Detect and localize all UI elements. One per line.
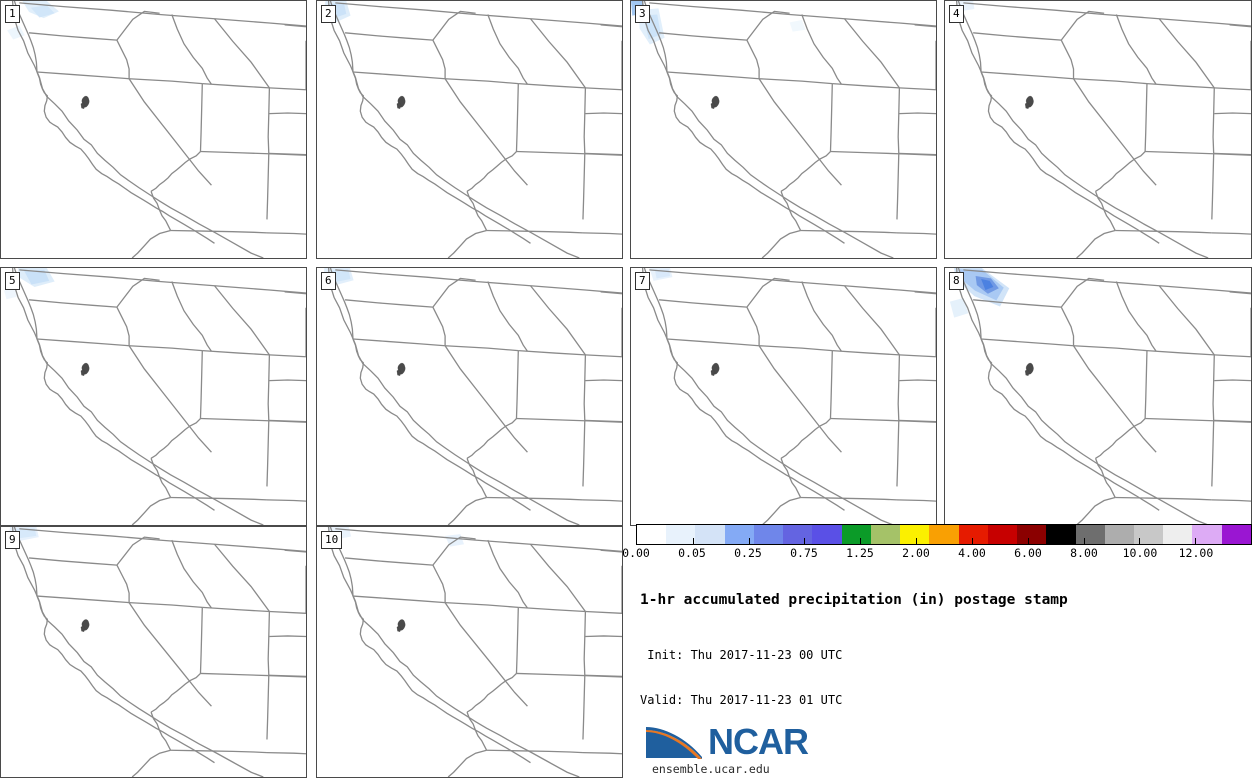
colorbar-tick-mark-7 — [1028, 538, 1029, 544]
colorbar-tick-mark-6 — [972, 538, 973, 544]
state-boundaries-8 — [957, 268, 1251, 525]
colorbar-swatch-9 — [900, 525, 929, 544]
colorbar-tick-label-5: 2.00 — [902, 546, 930, 560]
colorbar-tick-label-6: 4.00 — [958, 546, 986, 560]
colorbar-tick-labels: 0.000.050.250.751.252.004.006.008.0010.0… — [636, 546, 1252, 562]
map-panel-8[interactable]: 8 — [944, 267, 1252, 526]
colorbar-tick-mark-2 — [749, 538, 750, 544]
state-boundaries-4 — [957, 1, 1251, 258]
colorbar-swatch-4 — [754, 525, 783, 544]
colorbar-swatch-2 — [695, 525, 724, 544]
colorbar-tick-label-9: 10.00 — [1123, 546, 1158, 560]
colorbar-swatch-16 — [1105, 525, 1134, 544]
map-canvas-6 — [317, 268, 622, 525]
colorbar-tick-label-10: 12.00 — [1179, 546, 1214, 560]
map-canvas-5 — [1, 268, 306, 525]
colorbar-swatch-7 — [842, 525, 871, 544]
ncar-wordmark: NCAR — [708, 724, 808, 760]
colorbar-swatch-18 — [1163, 525, 1192, 544]
colorbar-swatch-19 — [1192, 525, 1221, 544]
colorbar-swatch-13 — [1017, 525, 1046, 544]
colorbar-swatch-14 — [1046, 525, 1075, 544]
valid-time-line: Valid: Thu 2017-11-23 01 UTC — [640, 693, 1240, 708]
plot-title: 1-hr accumulated precipitation (in) post… — [640, 592, 1240, 608]
init-time-line: Init: Thu 2017-11-23 00 UTC — [640, 648, 1240, 663]
colorbar-tick-mark-8 — [1084, 538, 1085, 544]
panel-number-label-6: 6 — [321, 272, 336, 290]
colorbar-swatch-20 — [1222, 525, 1251, 544]
colorbar-tick-label-0: 0.00 — [622, 546, 650, 560]
precip-contour-3-3 — [790, 20, 806, 32]
colorbar-tick-label-4: 1.25 — [846, 546, 874, 560]
colorbar-tick-mark-1 — [693, 538, 694, 544]
panel-number-label-9: 9 — [5, 531, 20, 549]
map-canvas-8 — [945, 268, 1251, 525]
panel-number-label-3: 3 — [635, 5, 650, 23]
map-panel-5[interactable]: 5 — [0, 267, 307, 526]
colorbar-swatch-11 — [959, 525, 988, 544]
map-panel-2[interactable]: 2 — [316, 0, 623, 259]
map-canvas-3 — [631, 1, 936, 258]
colorbar-swatch-10 — [929, 525, 958, 544]
panel-number-label-4: 4 — [949, 5, 964, 23]
colorbar-swatch-15 — [1076, 525, 1105, 544]
state-boundaries-3 — [643, 1, 936, 258]
colorbar-tick-label-7: 6.00 — [1014, 546, 1042, 560]
state-boundaries-1 — [13, 1, 306, 258]
colorbar-swatch-1 — [666, 525, 695, 544]
state-boundaries-6 — [329, 268, 622, 525]
panel-number-label-7: 7 — [635, 272, 650, 290]
panel-number-label-8: 8 — [949, 272, 964, 290]
state-boundaries-2 — [329, 1, 622, 258]
colorbar-swatch-5 — [783, 525, 812, 544]
colorbar-tick-mark-10 — [1195, 538, 1196, 544]
colorbar-swatch-6 — [812, 525, 841, 544]
state-boundaries-5 — [13, 268, 306, 525]
panel-number-label-1: 1 — [5, 5, 20, 23]
map-panel-6[interactable]: 6 — [316, 267, 623, 526]
colorbar: 0.000.050.250.751.252.004.006.008.0010.0… — [636, 524, 1252, 562]
map-canvas-9 — [1, 527, 306, 777]
state-boundaries-9 — [13, 527, 306, 777]
map-panel-1[interactable]: 1 — [0, 0, 307, 259]
colorbar-swatch-12 — [988, 525, 1017, 544]
colorbar-swatch-0 — [637, 525, 666, 544]
state-boundaries-7 — [643, 268, 936, 525]
panel-number-label-5: 5 — [5, 272, 20, 290]
colorbar-tick-label-8: 8.00 — [1070, 546, 1098, 560]
colorbar-tick-label-1: 0.05 — [678, 546, 706, 560]
ncar-mark-icon — [644, 718, 706, 760]
ncar-logo-block: NCAR ensemble.ucar.edu — [644, 716, 864, 776]
map-panel-7[interactable]: 7 — [630, 267, 937, 526]
map-panel-3[interactable]: 3 — [630, 0, 937, 259]
colorbar-swatches — [636, 524, 1252, 545]
ncar-url-label: ensemble.ucar.edu — [652, 762, 864, 776]
panel-number-label-10: 10 — [321, 531, 342, 549]
map-canvas-10 — [317, 527, 622, 777]
colorbar-tick-mark-4 — [860, 538, 861, 544]
map-canvas-2 — [317, 1, 622, 258]
colorbar-tick-mark-3 — [804, 538, 805, 544]
colorbar-tick-label-3: 0.75 — [790, 546, 818, 560]
map-panel-9[interactable]: 9 — [0, 526, 307, 778]
map-canvas-7 — [631, 268, 936, 525]
panel-number-label-2: 2 — [321, 5, 336, 23]
state-boundaries-10 — [329, 527, 622, 777]
map-canvas-4 — [945, 1, 1251, 258]
colorbar-swatch-8 — [871, 525, 900, 544]
map-canvas-1 — [1, 1, 306, 258]
precip-contour-8-4 — [950, 298, 968, 318]
map-panel-4[interactable]: 4 — [944, 0, 1252, 259]
map-panel-10[interactable]: 10 — [316, 526, 623, 778]
colorbar-tick-mark-9 — [1139, 538, 1140, 544]
colorbar-tick-mark-5 — [916, 538, 917, 544]
colorbar-tick-label-2: 0.25 — [734, 546, 762, 560]
